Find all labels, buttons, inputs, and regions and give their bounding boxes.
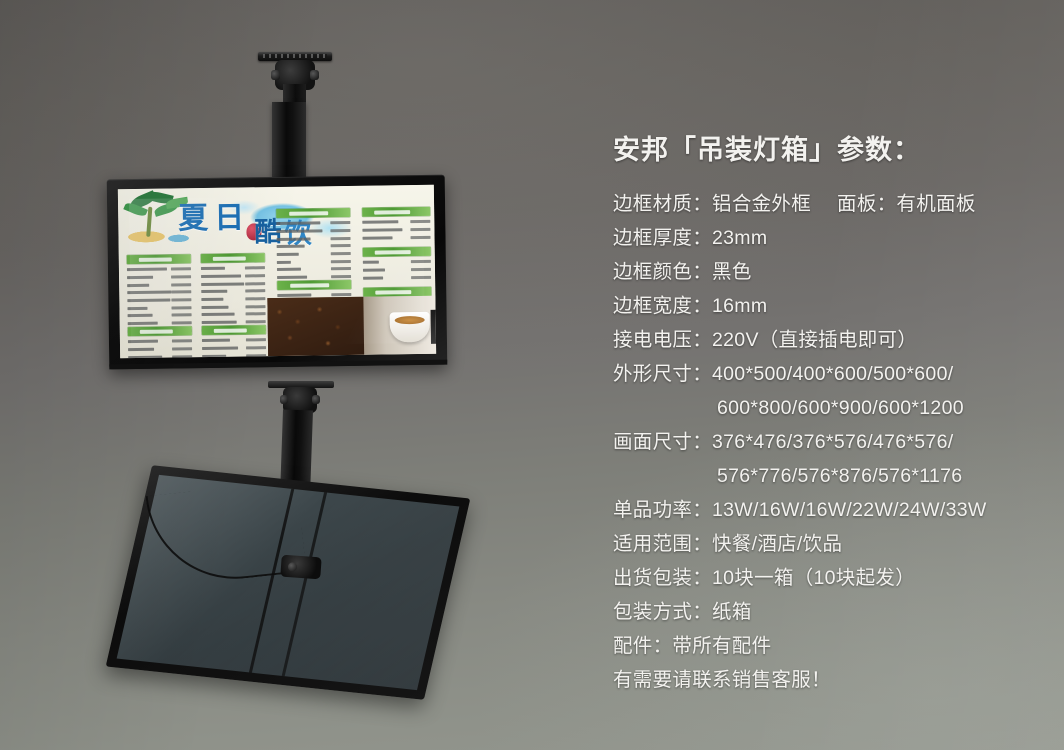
menu-row: [277, 235, 351, 242]
spec-footer: 有需要请联系销售客服！: [613, 663, 1043, 697]
menu-row: [276, 228, 350, 235]
spec-line: 外形尺寸：400*500/400*600/500*600/: [613, 357, 1043, 391]
spec-line: 接电电压：220V（直接插电即可）: [613, 323, 1043, 357]
spec-line: 包装方式：纸箱: [613, 595, 1043, 629]
menu-rows: [202, 337, 267, 358]
menu-row: [277, 266, 351, 273]
spec-value: 快餐/酒店/饮品: [712, 533, 842, 555]
menu-row: [127, 282, 191, 288]
spec-label: 出货包装：: [613, 567, 712, 589]
menu-row: [127, 289, 191, 295]
spec-list: 边框材质：铝合金外框面板：有机面板 边框厚度：23mm 边框颜色：黑色 边框宽度…: [613, 187, 1043, 697]
menu-section: [362, 207, 430, 243]
spec-value: 10块一箱（10块起发）: [712, 567, 915, 589]
spec-value: 纸箱: [712, 601, 752, 623]
spec-line: 单品功率：13W/16W/16W/22W/24W/33W: [613, 493, 1043, 527]
knuckle-bolt-left-lower-icon: [280, 395, 288, 404]
menu-row: [362, 234, 430, 241]
spec-value: 铝合金外框: [712, 193, 811, 215]
menu-row: [362, 219, 430, 226]
spec-label: 边框材质：: [613, 193, 712, 215]
menu-row: [128, 346, 192, 352]
menu-row: [202, 345, 266, 351]
spec-value: 400*500/400*600/500*600/: [712, 363, 953, 385]
menu-row: [201, 281, 265, 287]
menu-rows: [201, 265, 266, 333]
coffee-cup-front: [390, 312, 430, 343]
menu-section: [276, 208, 351, 283]
menu-section: [202, 325, 267, 358]
menu-row: [201, 288, 265, 294]
menu-row: [277, 258, 351, 265]
menu-rows: [128, 338, 193, 358]
spec-label: 接电电压：: [613, 329, 712, 351]
menu-row: [201, 304, 265, 310]
spec-line: 配件：带所有配件: [613, 629, 1043, 663]
spec-line: 画面尺寸：376*476/376*576/476*576/: [613, 425, 1043, 459]
menu-row: [127, 297, 191, 303]
menu-section: [201, 253, 266, 335]
menu-section: [127, 254, 192, 336]
menu-section-header: [277, 280, 351, 290]
mount-plate-holes: [263, 54, 327, 58]
menu-section: [363, 247, 431, 283]
spec-value: 23mm: [712, 227, 767, 249]
menu-row: [127, 305, 191, 311]
spec-label: 画面尺寸：: [613, 431, 712, 453]
spec-line: 边框材质：铝合金外框面板：有机面板: [613, 187, 1043, 221]
menu-rows: [362, 219, 430, 241]
menu-section-header: [127, 254, 191, 264]
light-box-screen: 夏 日 酷 饮: [118, 185, 436, 358]
menu-row: [363, 274, 431, 281]
spec-label: 边框宽度：: [613, 295, 712, 317]
spec-line: 适用范围：快餐/酒店/饮品: [613, 527, 1043, 561]
knuckle-bolt-left-icon: [271, 70, 280, 80]
spec-label: 适用范围：: [613, 533, 712, 555]
headline-char-2: 日: [214, 203, 244, 233]
spec-title: 安邦「吊装灯箱」参数：: [613, 128, 1043, 167]
menu-section: [128, 326, 193, 358]
knuckle-bolt-right-icon: [310, 70, 319, 80]
knuckle-bolt-right-lower-icon: [312, 395, 320, 404]
menu-row: [363, 259, 431, 266]
menu-rows: [363, 259, 431, 281]
menu-rows: [276, 220, 351, 280]
spec-line: 出货包装：10块一箱（10块起发）: [613, 561, 1043, 595]
spec-value: 376*476/376*576/476*576/: [712, 431, 953, 453]
coffee-photo: [267, 296, 436, 356]
menu-row: [362, 227, 430, 234]
menu-row: [202, 311, 266, 317]
spec-line: 边框厚度：23mm: [613, 221, 1043, 255]
spec-line: 边框宽度：16mm: [613, 289, 1043, 323]
spec-label: 边框厚度：: [613, 227, 712, 249]
spec-line-continued: 576*776/576*876/576*1176: [613, 459, 1043, 493]
spec-label: 单品功率：: [613, 499, 712, 521]
menu-section-header: [362, 207, 430, 217]
menu-section-header: [276, 208, 350, 218]
spec-label: 边框颜色：: [613, 261, 712, 283]
spec-value: 16mm: [712, 295, 767, 317]
spec-line: 边框颜色：黑色: [613, 255, 1043, 289]
product-photo-scene: 夏 日 酷 饮: [0, 0, 1064, 750]
menu-row: [201, 265, 265, 271]
menu-row: [277, 251, 351, 258]
menu-section-header: [202, 325, 266, 335]
menu-poster: 夏 日 酷 饮: [118, 185, 436, 358]
menu-row: [201, 296, 265, 302]
photo-dark-strip: [431, 310, 437, 344]
coffee-beans-image: [267, 297, 364, 356]
menu-row: [201, 273, 265, 279]
menu-section-header: [201, 253, 265, 263]
menu-row: [202, 337, 266, 343]
spec-label: 配件：: [613, 635, 672, 657]
menu-row: [276, 220, 350, 227]
spec-value: 带所有配件: [672, 635, 771, 657]
spec-panel: 安邦「吊装灯箱」参数： 边框材质：铝合金外框面板：有机面板 边框厚度：23mm …: [613, 128, 1043, 697]
headline-char-1: 夏: [178, 204, 208, 234]
menu-row: [128, 338, 192, 344]
spec-value: 220V（直接插电即可）: [712, 329, 917, 351]
spec-value: 13W/16W/16W/22W/24W/33W: [712, 499, 987, 521]
menu-row: [128, 312, 192, 318]
menu-row: [363, 267, 431, 274]
spec-extra: 面板：有机面板: [837, 193, 976, 215]
menu-row: [127, 274, 191, 280]
light-box-front: 夏 日 酷 饮: [107, 175, 448, 370]
menu-row: [277, 243, 351, 250]
spec-label: 包装方式：: [613, 601, 712, 623]
square-tube-pole-upper: [272, 102, 306, 184]
menu-section-header: [128, 326, 192, 336]
spec-line-continued: 600*800/600*900/600*1200: [613, 391, 1043, 425]
spec-value: 黑色: [712, 261, 752, 283]
pole-clamp: [280, 555, 321, 580]
spec-label: 外形尺寸：: [613, 363, 712, 385]
menu-row: [127, 266, 191, 272]
menu-section-header: [363, 247, 431, 257]
menu-rows: [127, 266, 192, 334]
